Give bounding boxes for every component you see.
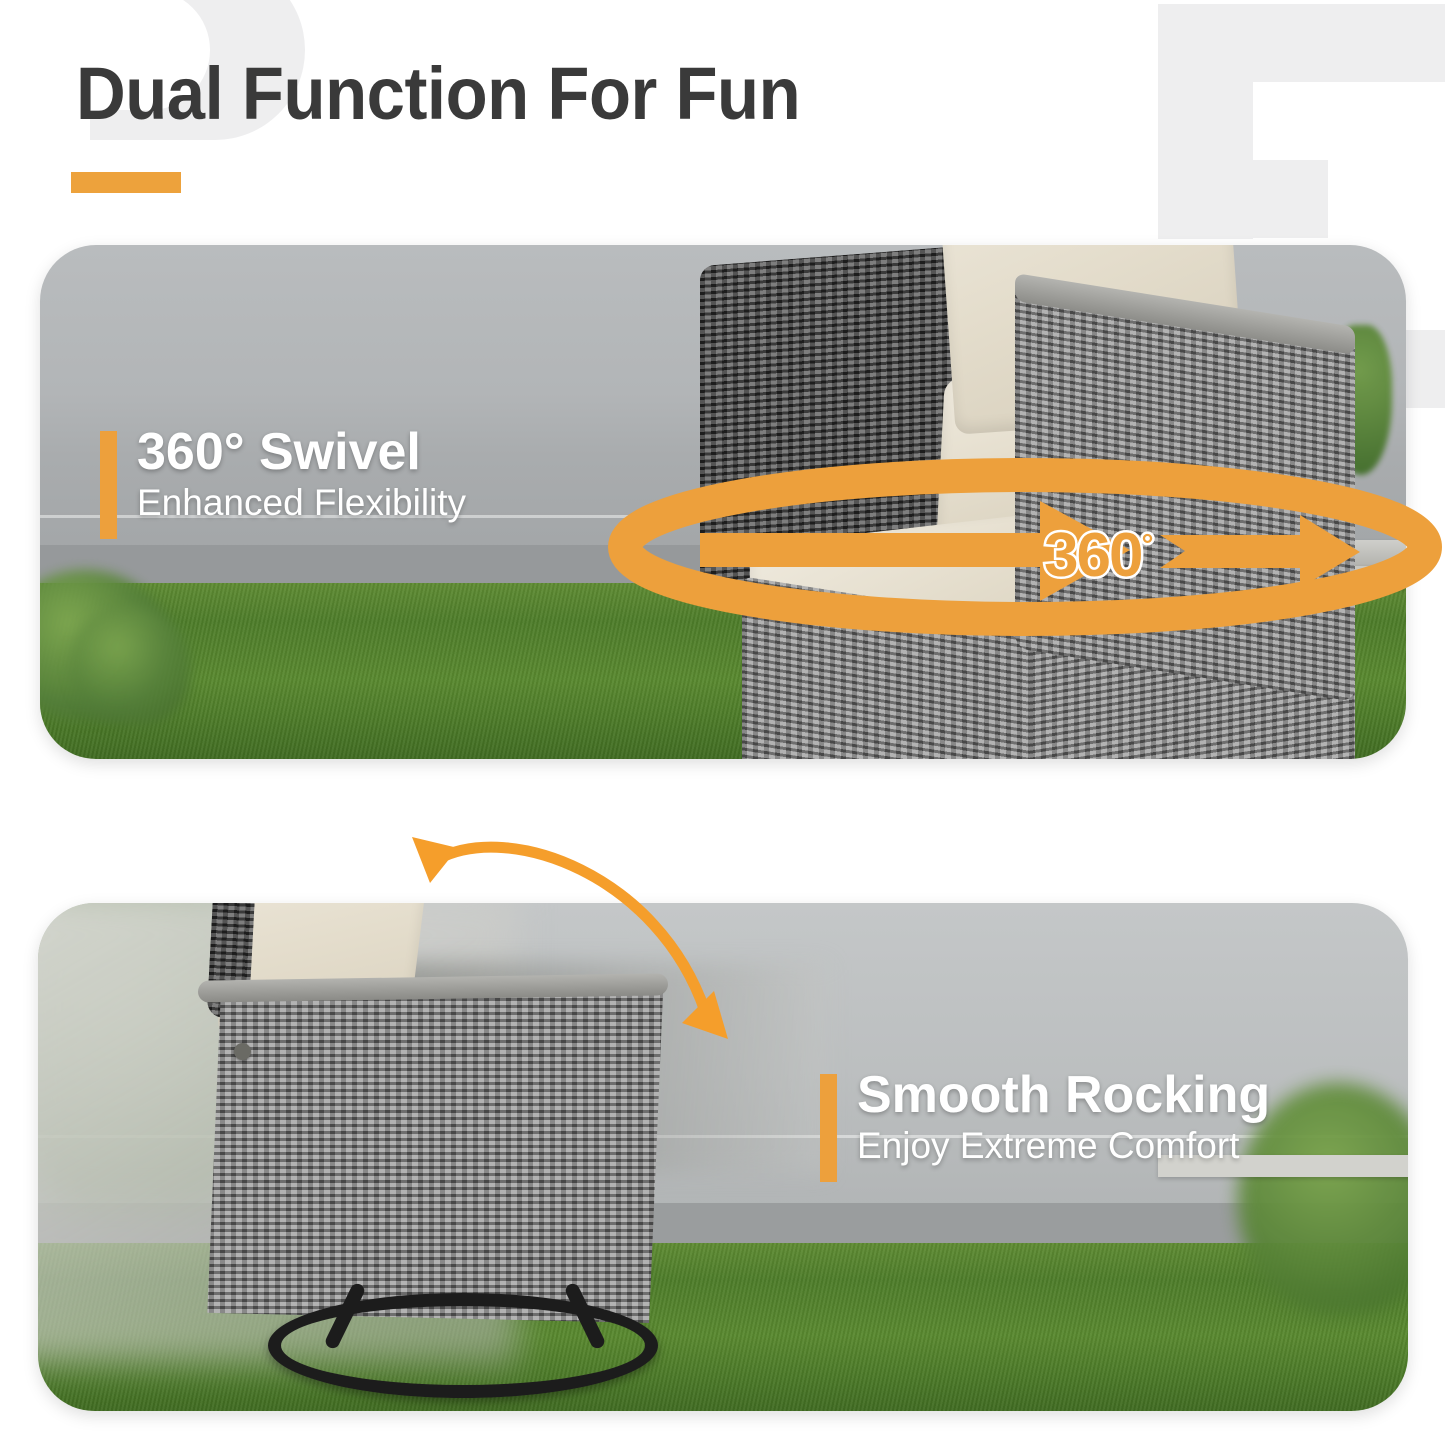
watermark-shape-right-top: [1158, 4, 1445, 82]
rotation-arrow-360-icon: [600, 455, 1445, 640]
caption-title-rocking: Smooth Rocking: [857, 1068, 1270, 1123]
caption-swivel: 360° Swivel Enhanced Flexibility: [100, 425, 466, 526]
rocking-arc-arrow-icon: [390, 815, 750, 1055]
page-title: Dual Function For Fun: [76, 57, 800, 131]
rotation-label-value: 360: [1044, 521, 1141, 590]
caption-rocking: Smooth Rocking Enjoy Extreme Comfort: [820, 1068, 1270, 1169]
caption-accent-bar-rocking: [820, 1074, 837, 1182]
rotation-label-360: 360°: [1044, 525, 1151, 587]
scene-shrub-left-2: [70, 605, 190, 725]
watermark-shape-right-stem: [1158, 4, 1253, 239]
caption-subtitle-swivel: Enhanced Flexibility: [137, 480, 466, 526]
watermark-shape-right-middle: [1158, 160, 1328, 238]
chair-hardware-bolt: [234, 1043, 251, 1060]
title-underline-accent: [71, 172, 181, 193]
caption-subtitle-rocking: Enjoy Extreme Comfort: [857, 1123, 1270, 1169]
caption-accent-bar-swivel: [100, 431, 117, 539]
rotation-label-degree: °: [1141, 528, 1151, 561]
caption-title-swivel: 360° Swivel: [137, 425, 466, 480]
